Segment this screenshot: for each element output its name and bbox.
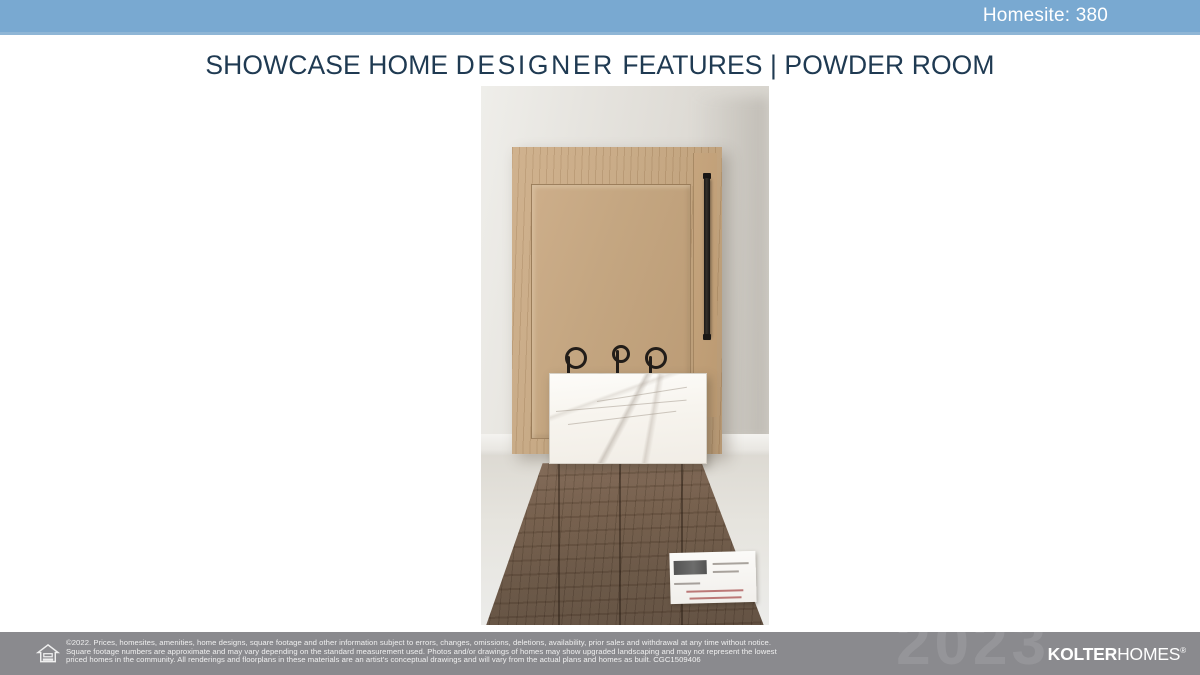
label-text-line xyxy=(712,563,748,566)
equal-housing-opportunity-icon xyxy=(36,642,60,665)
logo-registered-mark: ® xyxy=(1180,646,1186,655)
logo-homes-text: HOMES xyxy=(1117,644,1180,664)
easel-scroll-center-top xyxy=(612,345,630,363)
plank-seam xyxy=(619,463,621,625)
marble-vein xyxy=(568,411,677,425)
homesite-label: Homesite: 380 xyxy=(983,5,1108,27)
disclaimer-line-3: priced homes in the community. All rende… xyxy=(66,656,1026,665)
page-title-part-2: DESIGNER xyxy=(456,50,615,80)
marble-vein xyxy=(596,386,686,401)
page-title-part-1: SHOWCASE HOME xyxy=(205,50,455,80)
flooring-product-label xyxy=(669,551,757,604)
cabinet-bar-pull-handle xyxy=(704,178,710,338)
label-brand-logo xyxy=(673,561,706,575)
page-title: SHOWCASE HOME DESIGNER FEATURES | POWDER… xyxy=(0,50,1200,81)
plank-seam xyxy=(558,463,560,625)
label-text-line xyxy=(686,589,743,592)
kolter-homes-logo: KOLTERHOMES® xyxy=(1048,644,1186,665)
label-text-line xyxy=(713,571,739,574)
footer-disclaimer: ©2022. Prices, homesites, amenities, hom… xyxy=(66,639,1026,665)
marble-vein xyxy=(556,400,687,412)
logo-kolter-text: KOLTER xyxy=(1048,644,1117,664)
label-text-line xyxy=(674,582,700,585)
footer-bar: 2023 ©2022. Prices, homesites, amenities… xyxy=(0,632,1200,675)
top-banner: Homesite: 380 xyxy=(0,0,1200,35)
marble-tile-sample xyxy=(549,373,707,465)
pull-bracket-bottom xyxy=(703,334,711,340)
photo-content xyxy=(481,86,769,625)
design-selection-photo xyxy=(481,86,769,625)
page-title-part-3: FEATURES | POWDER ROOM xyxy=(615,50,995,80)
label-text-line xyxy=(689,597,741,600)
